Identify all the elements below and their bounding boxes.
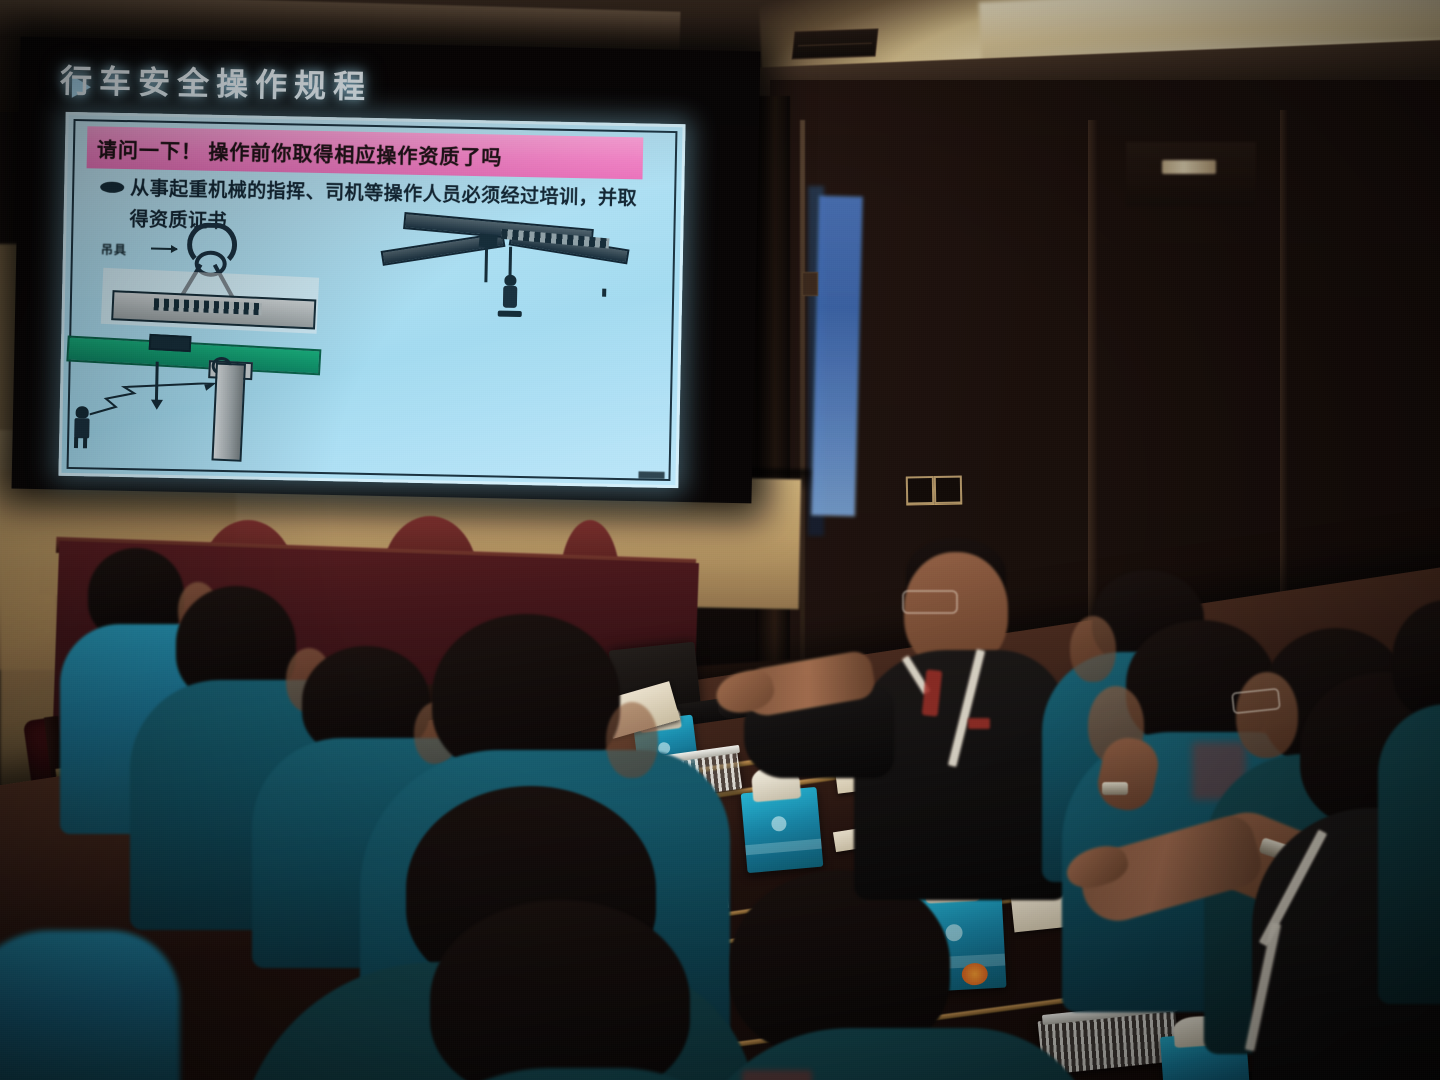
control-signal-line bbox=[90, 380, 217, 423]
blue-lit-door-panel bbox=[811, 196, 863, 517]
hoist-cable bbox=[508, 247, 512, 277]
diagram-sling-and-beam: 吊具 bbox=[101, 237, 323, 337]
wall-mounted-display bbox=[1126, 142, 1256, 206]
wall-switch-panel[interactable] bbox=[906, 475, 964, 502]
wall-display-glow bbox=[1162, 160, 1216, 174]
diagram-overhead-gantry-crane bbox=[379, 214, 631, 337]
tissue-box[interactable] bbox=[741, 787, 824, 873]
ceiling-air-vent bbox=[792, 28, 879, 59]
door-plate bbox=[802, 272, 818, 296]
light-switch-plate-left[interactable] bbox=[906, 476, 934, 504]
shirt-logo bbox=[968, 718, 990, 729]
conference-room-photo: 行车安全操作规程 请问一下！ 操作前你取得相应操作资质了吗 从事起重机械的指挥、… bbox=[0, 0, 1440, 1080]
diagram-speck bbox=[602, 289, 606, 297]
glasses-icon bbox=[902, 590, 958, 614]
hoist-cable bbox=[484, 246, 488, 282]
diagram-green-crane-beam bbox=[65, 340, 367, 462]
door-frame bbox=[756, 96, 790, 716]
crane-operator-figure bbox=[498, 275, 523, 323]
support-column bbox=[211, 363, 245, 462]
arrow-right-icon bbox=[151, 248, 177, 251]
slide-canvas: 请问一下！ 操作前你取得相应操作资质了吗 从事起重机械的指挥、司机等操作人员必须… bbox=[58, 112, 685, 488]
light-switch-plate-right[interactable] bbox=[934, 476, 962, 504]
door-gap bbox=[800, 120, 805, 720]
crane-trolley bbox=[479, 234, 498, 249]
oval-bullet-icon bbox=[100, 182, 124, 193]
beam-motor-box bbox=[149, 334, 192, 352]
wristwatch bbox=[1102, 782, 1128, 795]
diagram-label: 吊具 bbox=[101, 241, 127, 259]
slide-corner-mark bbox=[638, 471, 664, 479]
